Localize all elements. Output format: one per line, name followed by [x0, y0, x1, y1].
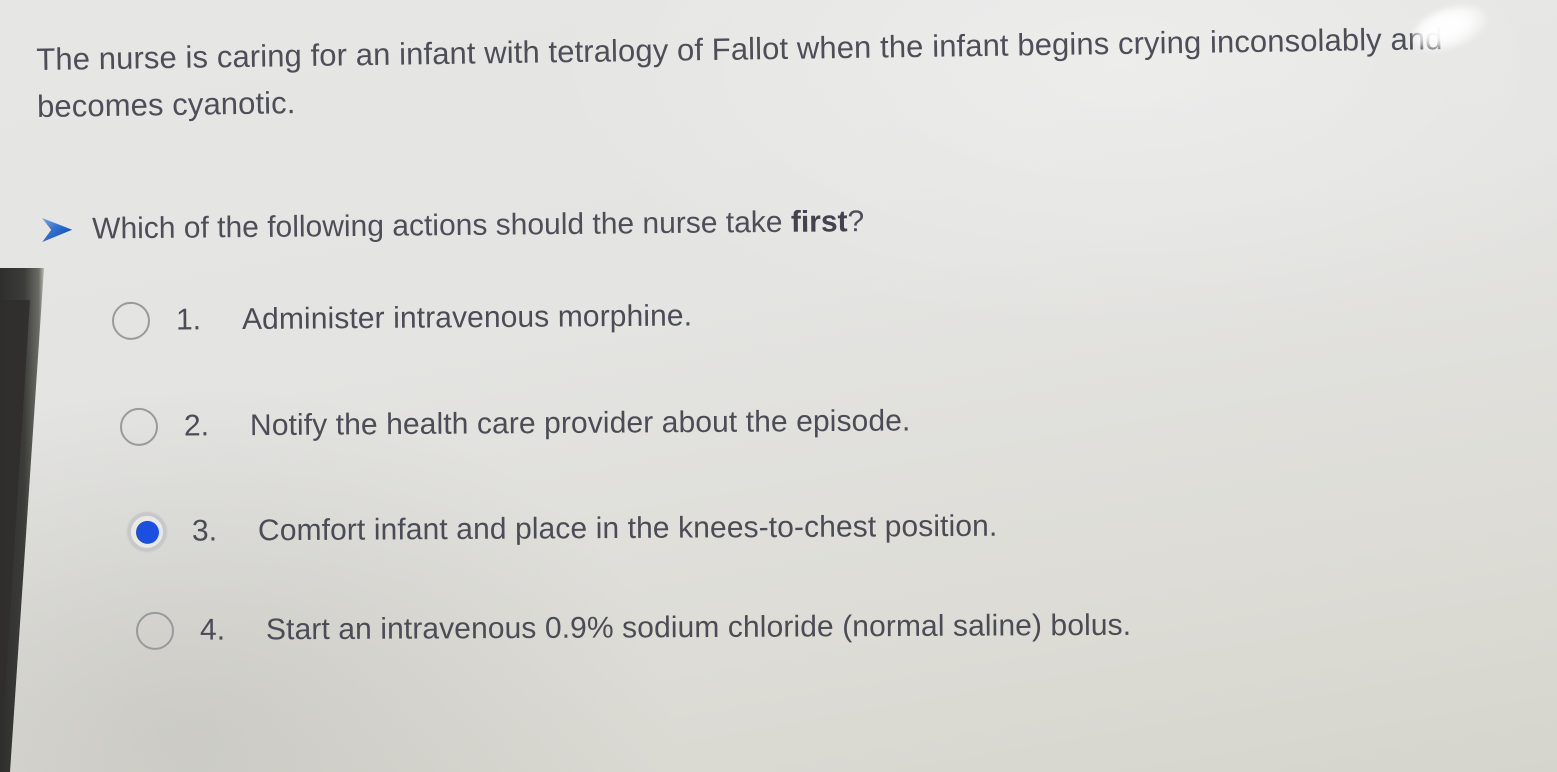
radio-button-option-3[interactable]: [128, 513, 166, 551]
option-number-4: 4.: [200, 613, 266, 647]
answer-option-2[interactable]: 2. Notify the health care provider about…: [120, 402, 911, 446]
exam-question-screen: The nurse is caring for an infant with t…: [0, 0, 1557, 772]
radio-button-option-1[interactable]: [112, 302, 150, 340]
option-label-3: Comfort infant and place in the knees-to…: [258, 510, 998, 549]
option-number-2: 2.: [184, 409, 250, 443]
option-label-2: Notify the health care provider about th…: [250, 404, 911, 443]
option-number-1: 1.: [176, 303, 242, 338]
option-number-3: 3.: [192, 514, 258, 548]
answer-option-4[interactable]: 4. Start an intravenous 0.9% sodium chlo…: [136, 607, 1131, 650]
radio-button-option-4[interactable]: [136, 612, 174, 650]
lead-in-prefix: Which of the following actions should th…: [92, 206, 791, 246]
answer-option-1[interactable]: 1. Administer intravenous morphine.: [112, 297, 692, 340]
lead-in-emphasis: first: [791, 205, 848, 239]
question-stem: The nurse is caring for an infant with t…: [36, 14, 1507, 130]
radio-button-option-2[interactable]: [120, 408, 158, 446]
question-lead-in-row: Which of the following actions should th…: [40, 204, 864, 248]
question-lead-in-text: Which of the following actions should th…: [92, 204, 864, 247]
option-label-1: Administer intravenous morphine.: [242, 299, 692, 337]
lead-in-suffix: ?: [847, 205, 864, 238]
option-label-4: Start an intravenous 0.9% sodium chlorid…: [266, 609, 1131, 648]
arrow-right-icon: [40, 215, 74, 245]
answer-option-3[interactable]: 3. Comfort infant and place in the knees…: [128, 508, 998, 551]
